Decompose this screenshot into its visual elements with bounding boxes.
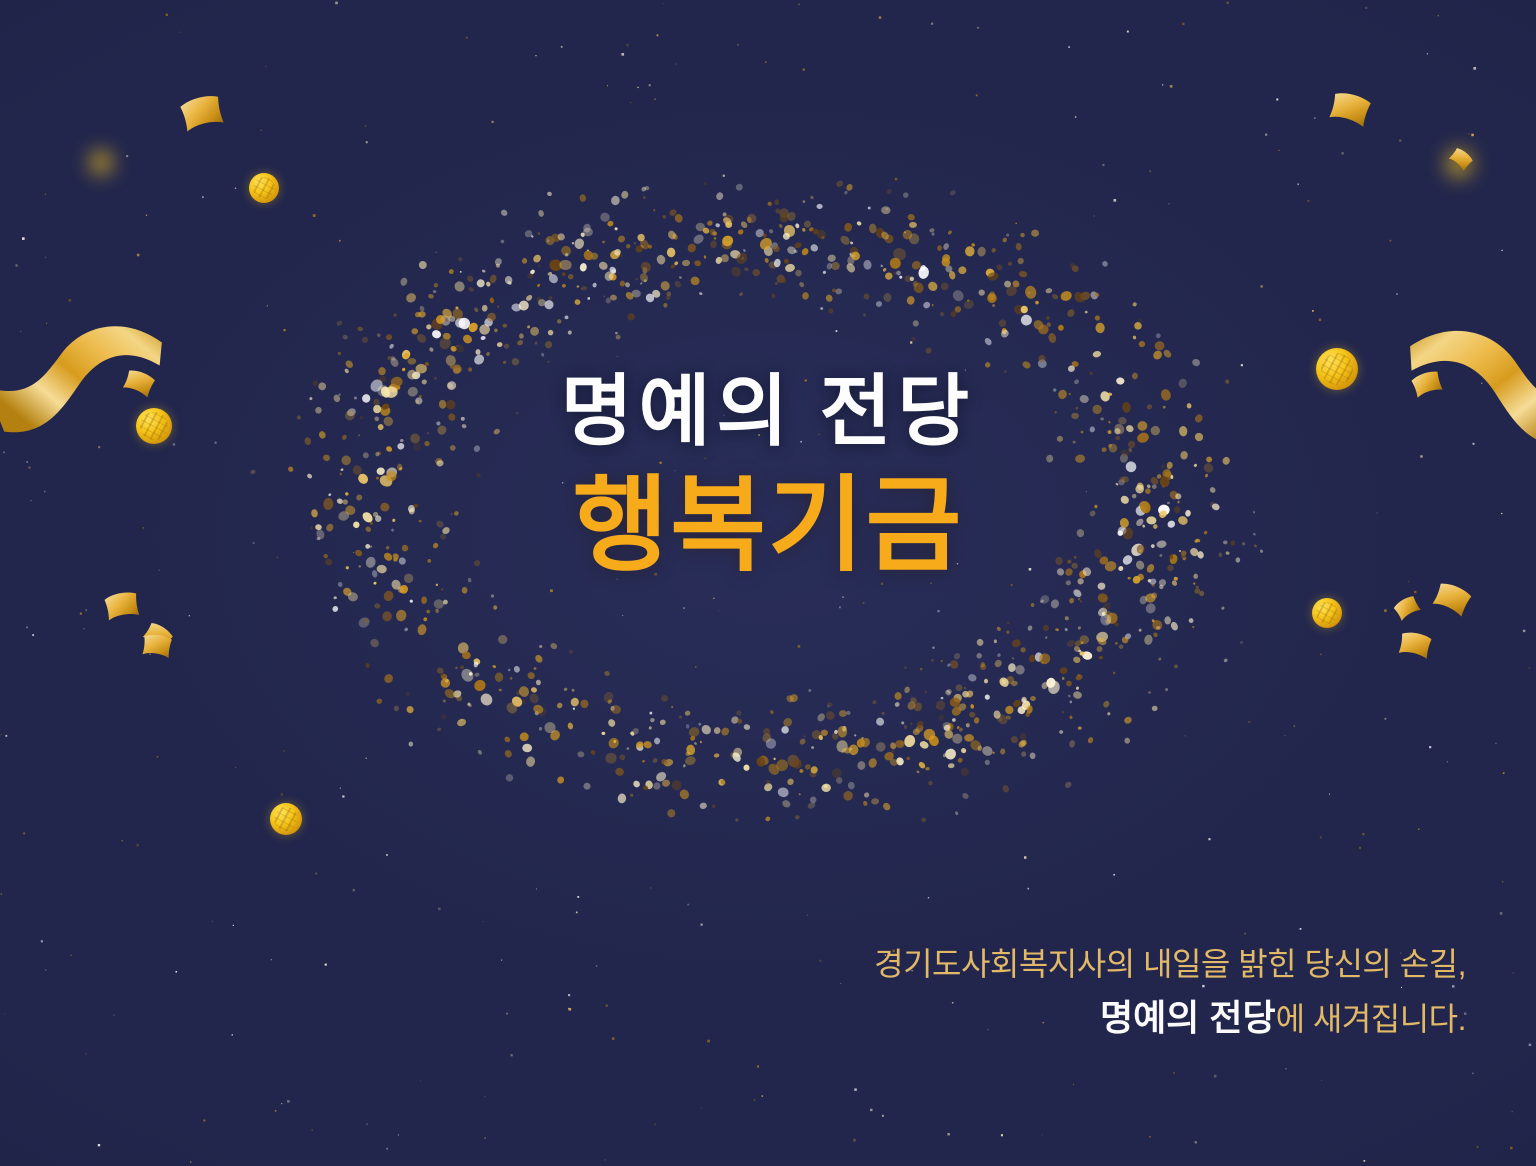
tagline-line-1: 경기도사회복지사의 내일을 밝힌 당신의 손길, — [706, 944, 1466, 985]
gold-ball-bottom-left — [270, 803, 302, 835]
gold-ball-right-mid — [1312, 598, 1342, 628]
confetti-right-low — [1391, 593, 1424, 623]
page-title: 명예의 전당 — [0, 370, 1536, 454]
confetti-right-lowest — [1396, 629, 1435, 662]
confetti-top-left — [177, 91, 228, 135]
confetti-left-crescent — [138, 632, 175, 660]
tagline-line-2-rest: 에 새겨집니다. — [1276, 1001, 1466, 1037]
gold-ball-top-left — [249, 173, 279, 203]
tagline-block: 경기도사회복지사의 내일을 밝힌 당신의 손길, 명예의 전당에 새겨집니다. — [706, 944, 1466, 1041]
confetti-top-right — [1326, 87, 1374, 131]
poster-canvas: 명예의 전당 행복기금 경기도사회복지사의 내일을 밝힌 당신의 손길, 명예의… — [0, 0, 1536, 1166]
glow-left-upper — [86, 140, 116, 185]
confetti-left-lower — [102, 589, 142, 623]
confetti-right-mid — [1429, 578, 1474, 620]
title-block: 명예의 전당 행복기금 — [0, 370, 1536, 582]
tagline-line-2: 명예의 전당에 새겨집니다. — [706, 995, 1466, 1041]
tagline-emphasis: 명예의 전당 — [1100, 997, 1276, 1038]
glow-right-top — [1442, 138, 1476, 189]
confetti-left-lowest — [139, 618, 178, 654]
page-subtitle: 행복기금 — [0, 472, 1536, 582]
